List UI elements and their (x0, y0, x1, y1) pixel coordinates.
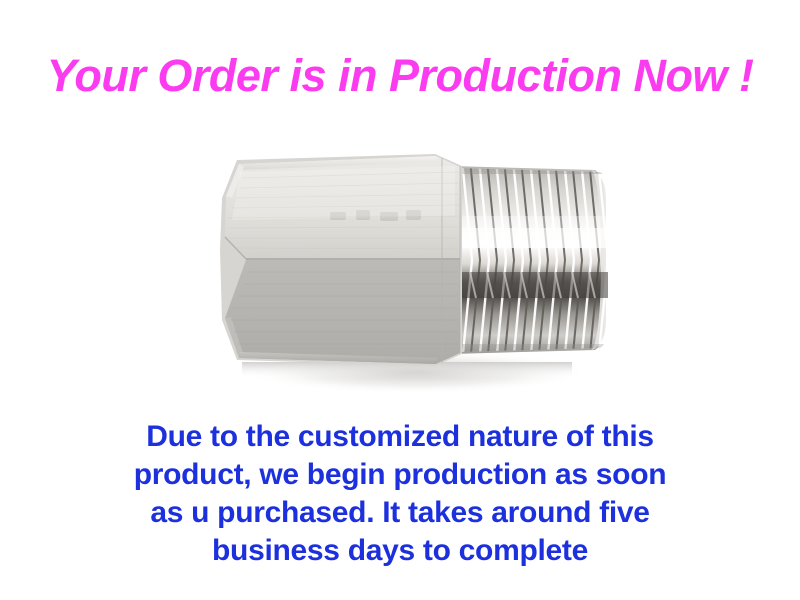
disclaimer-line: product, we begin production as soon (60, 456, 740, 494)
hex-nut-body (220, 154, 462, 366)
disclaimer-line: business days to complete (60, 532, 740, 570)
product-photo (180, 120, 640, 400)
promo-banner: Your Order is in Production Now ! (0, 0, 800, 600)
male-threaded-nipple (452, 160, 612, 364)
disclaimer-line: Due to the customized nature of this (60, 418, 740, 456)
disclaimer-text: Due to the customized nature of this pro… (60, 418, 740, 570)
page-title: Your Order is in Production Now ! (0, 52, 800, 99)
disclaimer-line: as u purchased. It takes around five (60, 494, 740, 532)
